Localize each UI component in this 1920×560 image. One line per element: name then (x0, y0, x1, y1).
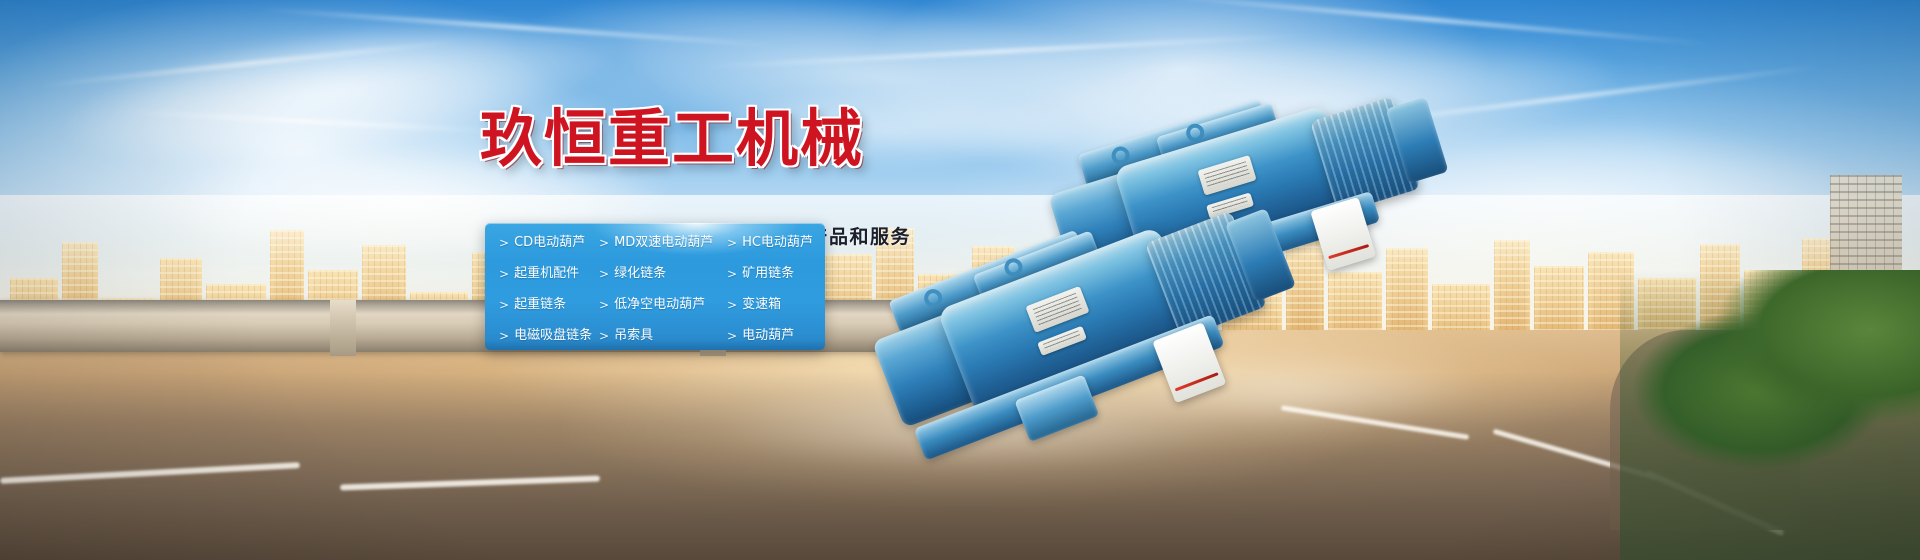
menu-item-label: 变速箱 (742, 298, 781, 311)
chevron-right-icon: > (727, 237, 737, 249)
menu-item-cd-electric-hoist[interactable]: > CD电动葫芦 (499, 236, 599, 249)
product-category-panel: > CD电动葫芦 > MD双速电动葫芦 > HC电动葫芦 > 起重机配件 > 绿… (485, 223, 825, 350)
menu-item-label: 吊索具 (614, 329, 653, 342)
chevron-right-icon: > (499, 268, 509, 280)
chevron-right-icon: > (499, 330, 509, 342)
menu-item-crane-parts[interactable]: > 起重机配件 (499, 267, 599, 280)
menu-item-hc-electric-hoist[interactable]: > HC电动葫芦 (727, 236, 819, 249)
menu-item-md-dual-speed-hoist[interactable]: > MD双速电动葫芦 (599, 236, 727, 249)
chevron-right-icon: > (599, 330, 609, 342)
product-category-grid: > CD电动葫芦 > MD双速电动葫芦 > HC电动葫芦 > 起重机配件 > 绿… (485, 223, 825, 350)
menu-item-lifting-slings[interactable]: > 吊索具 (599, 329, 727, 342)
menu-item-mining-chain[interactable]: > 矿用链条 (727, 267, 819, 280)
chevron-right-icon: > (599, 268, 609, 280)
barrier-post (330, 300, 356, 356)
menu-item-low-headroom-hoist[interactable]: > 低净空电动葫芦 (599, 298, 727, 311)
menu-item-label: 起重链条 (514, 298, 566, 311)
chevron-right-icon: > (727, 299, 737, 311)
menu-item-greening-chain[interactable]: > 绿化链条 (599, 267, 727, 280)
menu-item-magnetic-chuck-chain[interactable]: > 电磁吸盘链条 (499, 329, 599, 342)
menu-item-label: 电磁吸盘链条 (514, 329, 592, 342)
menu-item-label: 起重机配件 (514, 267, 579, 280)
chevron-right-icon: > (599, 299, 609, 311)
menu-item-label: 绿化链条 (614, 267, 666, 280)
menu-item-label: 矿用链条 (742, 267, 794, 280)
menu-item-label: 低净空电动葫芦 (614, 298, 705, 311)
chevron-right-icon: > (599, 237, 609, 249)
roadside-vegetation (1620, 270, 1920, 560)
chevron-right-icon: > (499, 299, 509, 311)
menu-item-label: MD双速电动葫芦 (614, 236, 713, 249)
menu-item-label: 电动葫芦 (742, 329, 794, 342)
chevron-right-icon: > (499, 237, 509, 249)
chevron-right-icon: > (727, 268, 737, 280)
chevron-right-icon: > (727, 330, 737, 342)
menu-item-electric-hoist[interactable]: > 电动葫芦 (727, 329, 819, 342)
menu-item-gearbox[interactable]: > 变速箱 (727, 298, 819, 311)
menu-item-label: CD电动葫芦 (514, 236, 585, 249)
promotional-banner: 玖恒重工机械 以新的经营理念为客户提供优良的产品和服务 > CD电动葫芦 > M… (0, 0, 1920, 560)
company-title: 玖恒重工机械 (480, 108, 1100, 170)
menu-item-label: HC电动葫芦 (742, 236, 813, 249)
banner-title-wrap: 玖恒重工机械 (480, 108, 1100, 170)
menu-item-lifting-chain[interactable]: > 起重链条 (499, 298, 599, 311)
